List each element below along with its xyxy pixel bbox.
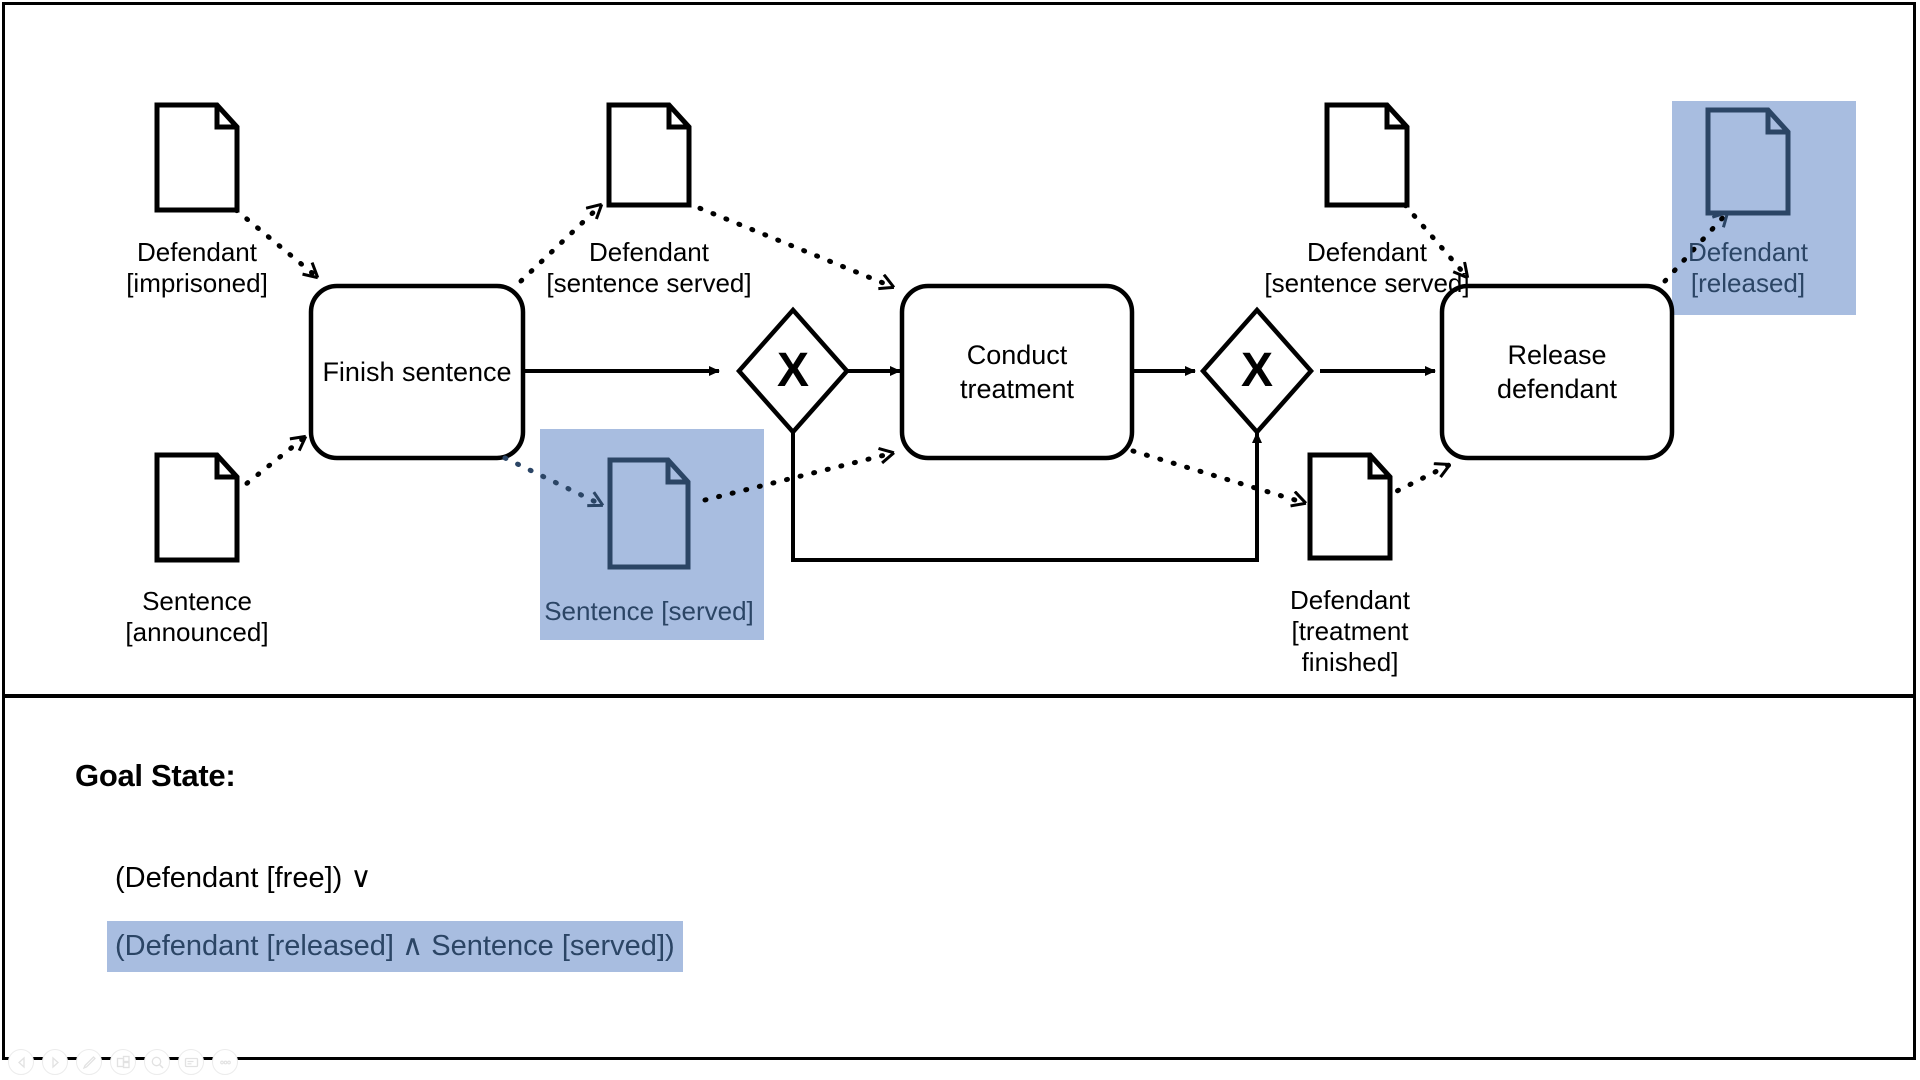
bpmn-diagram-pane: Finish sentence Conduct treatment Releas…	[5, 5, 1913, 698]
gateway-1-symbol: X	[777, 344, 809, 397]
data-object-defendant-imprisoned[interactable]: Defendant [imprisoned]	[126, 105, 268, 298]
data-object-defendant-sentence-served-1[interactable]: Defendant [sentence served]	[546, 105, 751, 298]
task-release-defendant[interactable]: Release defendant	[1442, 286, 1672, 458]
data-object-defendant-sentence-served-2[interactable]: Defendant [sentence served]	[1264, 105, 1469, 298]
goal-state-title: Goal State:	[75, 758, 235, 794]
data-object-sentence-announced-label-1: Sentence	[142, 586, 252, 616]
slides-overview-button[interactable]	[110, 1049, 136, 1075]
more-options-button[interactable]	[212, 1049, 238, 1075]
assoc-treatment-finished-to-release	[1385, 465, 1449, 497]
data-object-defendant-treatment-finished[interactable]: Defendant [treatment finished]	[1290, 455, 1411, 677]
data-object-defendant-treatment-finished-label-1: Defendant	[1290, 585, 1411, 615]
data-object-defendant-treatment-finished-label-3: finished]	[1302, 647, 1399, 677]
next-icon	[49, 1056, 62, 1069]
data-object-defendant-imprisoned-label-1: Defendant	[137, 237, 258, 267]
next-slide-button[interactable]	[42, 1049, 68, 1075]
task-conduct-treatment[interactable]: Conduct treatment	[902, 286, 1132, 458]
data-object-defendant-sentence-served-1-label-2: [sentence served]	[546, 268, 751, 298]
slide-canvas: Finish sentence Conduct treatment Releas…	[0, 0, 1920, 1080]
task-conduct-treatment-label-2: treatment	[960, 374, 1075, 404]
task-release-defendant-label-1: Release	[1507, 340, 1606, 370]
assoc-conduct-to-treatment-finished	[1133, 451, 1305, 503]
zoom-button[interactable]	[144, 1049, 170, 1075]
goal-state-formula-line-1: (Defendant [free]) ∨	[115, 860, 372, 895]
gateway-exclusive-1[interactable]: X	[739, 310, 847, 432]
pen-icon	[82, 1055, 97, 1070]
data-object-sentence-announced-label-2: [announced]	[125, 617, 268, 647]
data-object-sentence-served-label: Sentence [served]	[544, 596, 754, 626]
presentation-toolbar	[8, 1049, 238, 1075]
data-object-defendant-sentence-served-1-label-1: Defendant	[589, 237, 710, 267]
data-object-defendant-treatment-finished-label-2: [treatment	[1291, 616, 1409, 646]
data-object-defendant-released-label-2: [released]	[1691, 268, 1805, 298]
bpmn-diagram-svg: Finish sentence Conduct treatment Releas…	[5, 5, 1913, 695]
presentation-icon	[184, 1055, 199, 1070]
goal-state-pane: Goal State: (Defendant [free]) ∨ (Defend…	[5, 702, 1913, 1057]
presentation-view-button[interactable]	[178, 1049, 204, 1075]
data-object-defendant-released-label-1: Defendant	[1688, 237, 1809, 267]
task-finish-sentence[interactable]: Finish sentence	[311, 286, 523, 458]
data-object-defendant-sentence-served-2-label-2: [sentence served]	[1264, 268, 1469, 298]
data-object-defendant-sentence-served-2-label-1: Defendant	[1307, 237, 1428, 267]
previous-icon	[15, 1056, 28, 1069]
task-release-defendant-label-2: defendant	[1497, 374, 1618, 404]
pen-button[interactable]	[76, 1049, 102, 1075]
previous-slide-button[interactable]	[8, 1049, 34, 1075]
gateway-2-symbol: X	[1241, 344, 1273, 397]
slide-frame: Finish sentence Conduct treatment Releas…	[2, 2, 1916, 1060]
ellipsis-icon	[218, 1055, 233, 1070]
goal-state-formula-line-2: (Defendant [released] ∧ Sentence [served…	[107, 921, 683, 972]
task-conduct-treatment-label-1: Conduct	[967, 340, 1068, 370]
grid-icon	[116, 1055, 131, 1070]
gateway-exclusive-2[interactable]: X	[1203, 310, 1311, 432]
magnifier-icon	[150, 1055, 165, 1070]
data-object-defendant-imprisoned-label-2: [imprisoned]	[126, 268, 268, 298]
task-finish-sentence-label: Finish sentence	[322, 357, 511, 387]
assoc-sentence-announced-to-finish	[236, 437, 305, 492]
